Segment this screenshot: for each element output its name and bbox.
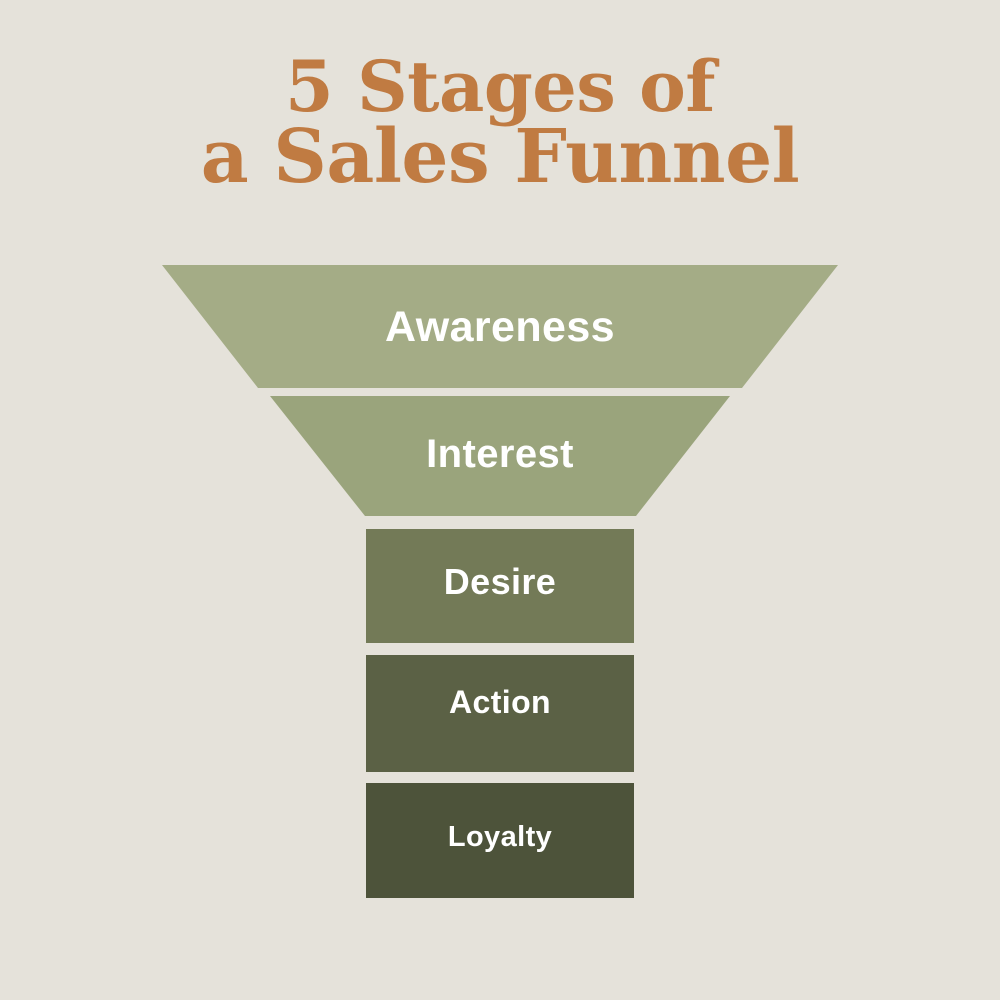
funnel-band-desire[interactable] — [366, 529, 634, 643]
funnel-band-action[interactable] — [366, 655, 634, 772]
funnel-band-awareness[interactable] — [162, 265, 838, 388]
funnel-band-loyalty[interactable] — [366, 783, 634, 898]
funnel-band-interest[interactable] — [270, 396, 730, 516]
infographic-canvas: 5 Stages of a Sales Funnel Awareness Int… — [0, 0, 1000, 1000]
funnel-svg — [0, 0, 1000, 1000]
sales-funnel-chart: Awareness Interest Desire Action Loyalty — [0, 0, 1000, 1000]
